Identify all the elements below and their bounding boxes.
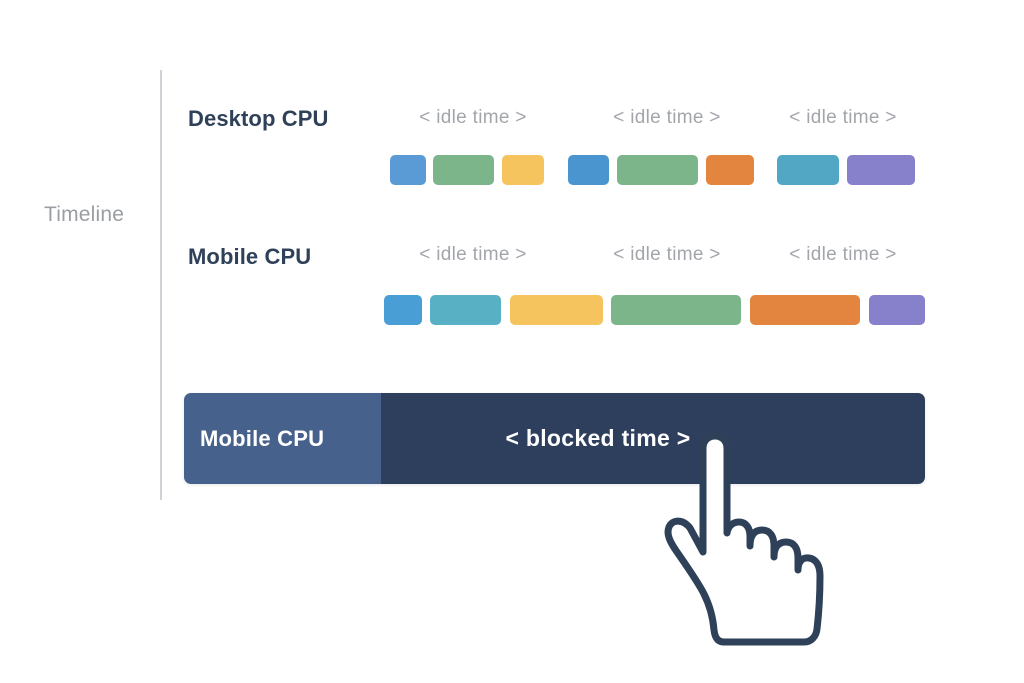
blocked-bar-label-segment: Mobile CPU (184, 393, 381, 484)
timeline-illustration: Timeline Desktop CPU< idle time >< idle … (0, 0, 1024, 683)
cpu-task-green-1-bar[interactable] (611, 295, 741, 325)
cpu-task-blue-1-bar[interactable] (390, 155, 426, 185)
cpu-task-amber-1-bar[interactable] (502, 155, 544, 185)
idle-time-label: < idle time > (789, 107, 896, 129)
idle-time-label: < idle time > (419, 244, 526, 266)
cpu-row-title: Mobile CPU (188, 244, 311, 270)
cpu-task-green-2-bar[interactable] (617, 155, 698, 185)
cpu-row-title: Desktop CPU (188, 106, 328, 132)
timeline-axis-label: Timeline (44, 203, 124, 227)
idle-time-label: < idle time > (613, 244, 720, 266)
cpu-task-amber-1-bar[interactable] (510, 295, 603, 325)
blocked-bar-device-label: Mobile CPU (200, 426, 324, 452)
cpu-task-purple-1-bar[interactable] (847, 155, 915, 185)
idle-time-label: < idle time > (613, 107, 720, 129)
blocked-bar-time-segment: < blocked time > (381, 393, 925, 484)
blocked-time-bar[interactable]: Mobile CPU < blocked time > (184, 393, 925, 484)
cpu-task-teal-1-bar[interactable] (777, 155, 839, 185)
idle-time-label: < idle time > (419, 107, 526, 129)
blocked-bar-time-label: < blocked time > (505, 425, 690, 452)
cpu-task-orange-1-bar[interactable] (750, 295, 860, 325)
timeline-axis-line (160, 70, 162, 500)
cpu-task-green-1-bar[interactable] (433, 155, 494, 185)
cpu-task-blue-1-bar[interactable] (384, 295, 422, 325)
cpu-task-purple-1-bar[interactable] (869, 295, 925, 325)
idle-time-label: < idle time > (789, 244, 896, 266)
cpu-task-blue-2-bar[interactable] (568, 155, 609, 185)
cpu-task-orange-1-bar[interactable] (706, 155, 754, 185)
cpu-task-teal-1-bar[interactable] (430, 295, 501, 325)
